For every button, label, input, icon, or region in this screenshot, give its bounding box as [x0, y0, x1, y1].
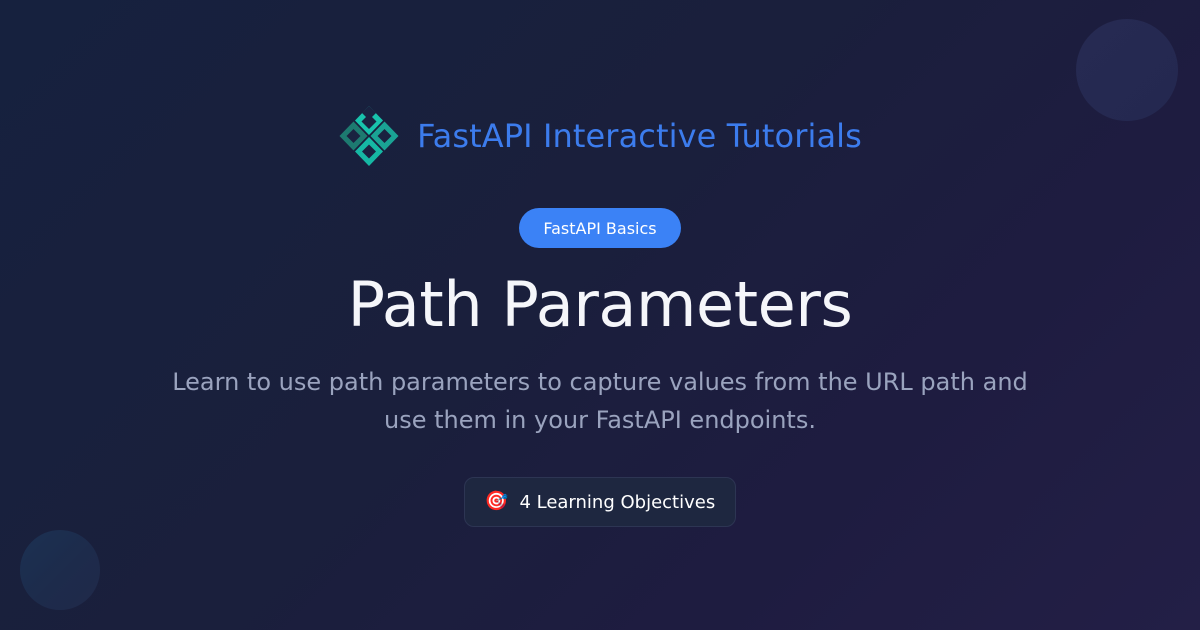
- page-description: Learn to use path parameters to capture …: [170, 363, 1030, 439]
- page-title: Path Parameters: [348, 272, 853, 337]
- og-card: FastAPI Interactive Tutorials FastAPI Ba…: [0, 0, 1200, 630]
- category-badge[interactable]: FastAPI Basics: [519, 208, 680, 248]
- learning-objectives-button[interactable]: 🎯 4 Learning Objectives: [464, 477, 736, 527]
- card-content: FastAPI Interactive Tutorials FastAPI Ba…: [0, 0, 1200, 630]
- brand-header: FastAPI Interactive Tutorials: [338, 101, 862, 171]
- learning-objectives-label: 4 Learning Objectives: [519, 492, 715, 513]
- direct-hit-target-icon: 🎯: [485, 492, 509, 511]
- brand-title: FastAPI Interactive Tutorials: [417, 117, 862, 155]
- four-diamonds-logo-icon: [338, 103, 400, 169]
